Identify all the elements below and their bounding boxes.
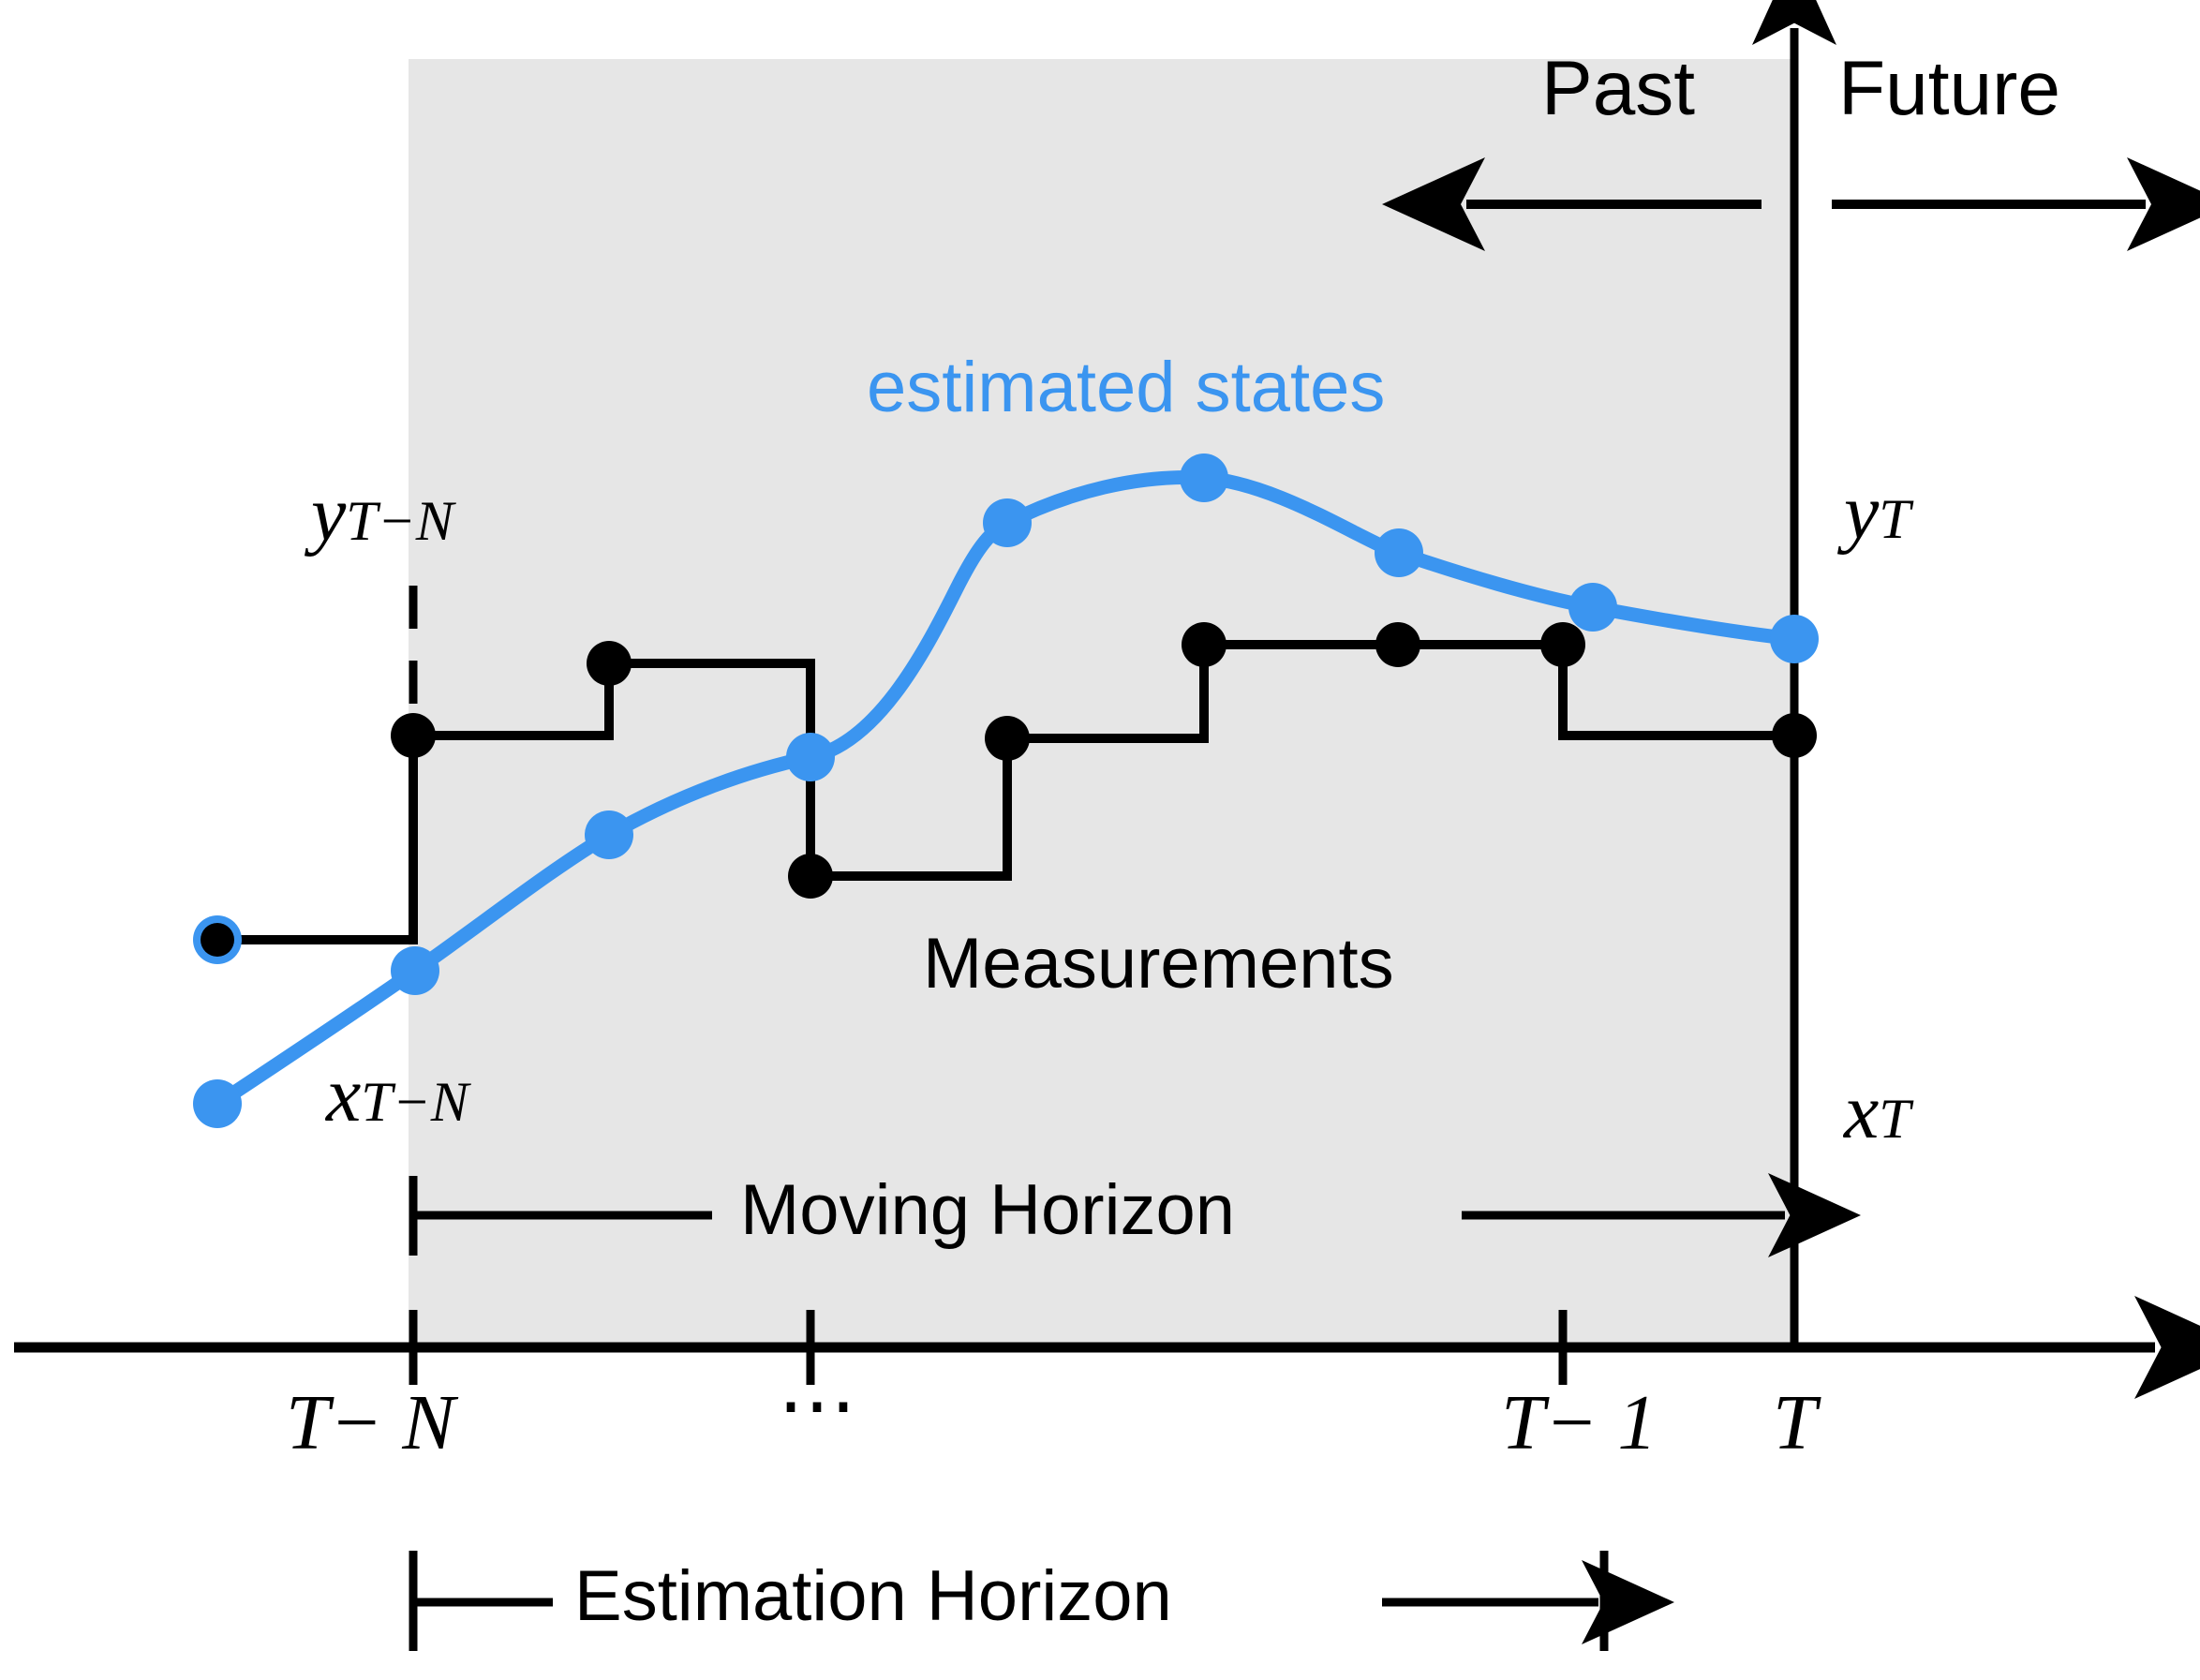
moving-horizon-shaded-region [409, 59, 1794, 1347]
tick-label-ellipsis-base: ⋯ [778, 1362, 856, 1450]
tick-label-t-minus-n: T− N [286, 1377, 454, 1468]
y-t-minus-n-base: y [311, 470, 346, 558]
tick-label-t-minus-1: T− 1 [1501, 1377, 1657, 1468]
y-t-label: yT [1844, 467, 1910, 558]
tick-label-t-minus-n-base: T [286, 1379, 330, 1466]
x-t-base: x [1844, 1068, 1879, 1155]
x-t-minus-n-label: xT−N [326, 1049, 468, 1140]
tick-label-t-base: T [1773, 1379, 1817, 1466]
estimated-states-label: estimated states [867, 347, 1385, 428]
estimation-horizon-label: Estimation Horizon [574, 1555, 1172, 1637]
past-label: Past [1541, 45, 1695, 133]
figure-canvas: Past Future estimated states Measurement… [0, 0, 2200, 1680]
y-t-minus-n-sub: T−N [346, 490, 453, 553]
x-t-label: xT [1844, 1066, 1910, 1157]
x-t-minus-n-base: x [326, 1051, 361, 1138]
tick-label-ellipsis: ⋯ [778, 1359, 856, 1451]
y-t-minus-n-label: yT−N [311, 468, 453, 559]
y-t-base: y [1844, 468, 1879, 556]
future-label: Future [1838, 45, 2060, 133]
tick-label-t-minus-1-rest: − 1 [1545, 1379, 1657, 1466]
y-t-sub: T [1879, 488, 1910, 551]
measurements-label: Measurements [923, 923, 1394, 1004]
tick-label-t: T [1773, 1377, 1817, 1468]
tick-label-t-minus-n-rest: − N [330, 1379, 455, 1466]
moving-horizon-label: Moving Horizon [740, 1169, 1235, 1251]
tick-label-t-minus-1-base: T [1501, 1379, 1545, 1466]
x-t-minus-n-sub: T−N [361, 1071, 468, 1134]
x-t-sub: T [1879, 1088, 1910, 1151]
